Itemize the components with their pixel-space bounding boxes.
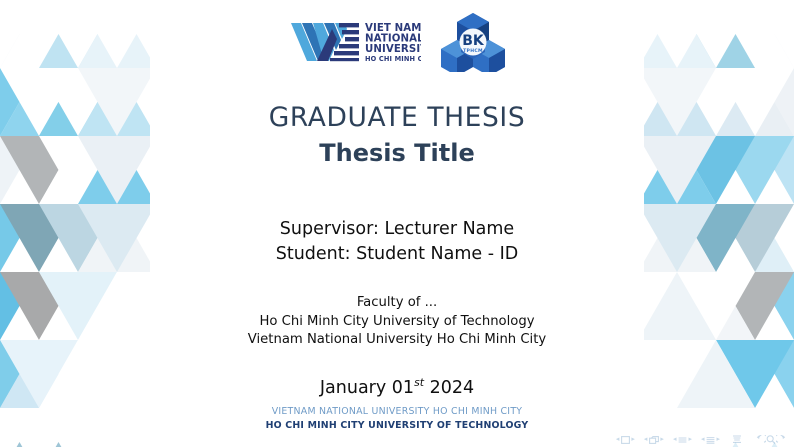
frame-icon[interactable] [649, 436, 659, 444]
presentation-date: January 01st 2024 [150, 378, 644, 398]
search-icon[interactable] [766, 435, 776, 444]
student-line: Student: Student Name - ID [150, 242, 644, 267]
date-ordinal: st [414, 376, 424, 389]
date-block: January 01st 2024 [150, 378, 644, 398]
presentation-icon[interactable] [732, 435, 742, 444]
document-type: GRADUATE THESIS [150, 102, 644, 133]
next-section-arrow[interactable]: ▸ [716, 436, 720, 443]
slide-navigation-group[interactable]: ◂ ▸ [616, 436, 635, 444]
section-icon[interactable] [706, 436, 715, 444]
footer-vnu-line: VIETNAM NATIONAL UNIVERSITY HO CHI MINH … [150, 405, 644, 419]
frame-navigation-group[interactable]: ◂ ▸ [644, 436, 664, 444]
slide-content: GRADUATE THESIS Thesis Title Supervisor:… [150, 0, 644, 398]
affiliation-block: Faculty of ... Ho Chi Minh City Universi… [150, 294, 644, 350]
previous-subsection-arrow[interactable]: ◂ [673, 436, 677, 443]
next-frame-arrow[interactable]: ▸ [660, 436, 664, 443]
faculty-line: Faculty of ... [150, 294, 644, 313]
footer: VIETNAM NATIONAL UNIVERSITY HO CHI MINH … [150, 405, 644, 433]
supervisor-line: Supervisor: Lecturer Name [150, 217, 644, 242]
forward-icon[interactable] [776, 435, 786, 444]
section-navigation-group[interactable]: ◂ ▸ [701, 436, 720, 444]
previous-slide-arrow[interactable]: ◂ [616, 436, 620, 443]
subsection-navigation-group[interactable]: ◂ ▸ [673, 436, 692, 444]
subsection-icon[interactable] [678, 436, 687, 444]
date-month: January [320, 378, 386, 398]
thesis-title: Thesis Title [150, 139, 644, 168]
previous-frame-arrow[interactable]: ◂ [644, 436, 648, 443]
footer-hcmut-line: HO CHI MINH CITY UNIVERSITY OF TECHNOLOG… [150, 419, 644, 433]
next-subsection-arrow[interactable]: ▸ [688, 436, 692, 443]
title-block: GRADUATE THESIS Thesis Title [150, 102, 644, 168]
vnu-line: Vietnam National University Ho Chi Minh … [150, 331, 644, 350]
title-slide: VIET NAM NATIONAL UNIVERSITY HO CHI MINH… [0, 0, 794, 447]
people-block: Supervisor: Lecturer Name Student: Stude… [150, 217, 644, 268]
university-line: Ho Chi Minh City University of Technolog… [150, 313, 644, 332]
date-day: 01 [392, 378, 414, 398]
beamer-navigation-bar[interactable]: ◂ ▸ ◂ ▸ ◂ ▸ [616, 435, 786, 444]
zoom-controls[interactable] [756, 435, 786, 444]
slide-icon[interactable] [621, 436, 630, 444]
next-slide-arrow[interactable]: ▸ [631, 436, 635, 443]
date-year: 2024 [430, 378, 475, 398]
previous-section-arrow[interactable]: ◂ [701, 436, 705, 443]
back-icon[interactable] [756, 435, 766, 444]
